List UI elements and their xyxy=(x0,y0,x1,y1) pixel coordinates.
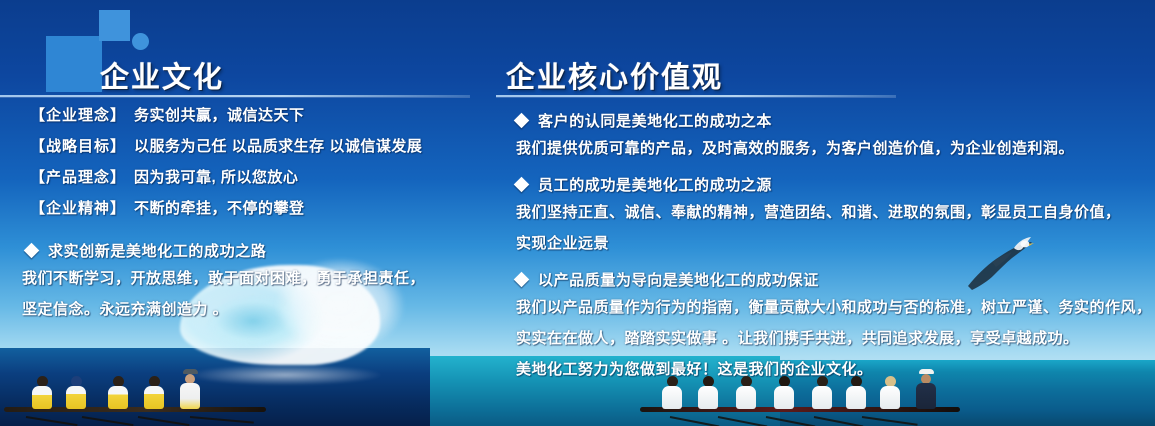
rower-body xyxy=(880,386,900,409)
coxswain xyxy=(180,369,200,409)
oar xyxy=(138,416,190,426)
column-right: 客户的认同是美地化工的成功之本 我们提供优质可靠的产品，及时高效的服务，为客户创… xyxy=(496,104,1136,389)
value-bullet-label: 员工的成功是美地化工的成功之源 xyxy=(538,174,772,195)
diamond-bullet-icon xyxy=(514,272,530,288)
corporate-culture-banner: 企业文化 企业核心价值观 【企业理念】 务实创共赢，诚信达天下 【战略目标】 以… xyxy=(0,0,1155,426)
culture-entry-value: 务实创共赢，诚信达天下 xyxy=(134,104,305,125)
divider-right xyxy=(496,95,896,97)
culture-entry: 【企业理念】 务实创共赢，诚信达天下 xyxy=(0,104,480,135)
culture-bullet-label: 求实创新是美地化工的成功之路 xyxy=(48,240,266,261)
value-paragraph-line: 实现企业远景 xyxy=(496,232,1136,263)
value-bullet-label: 以产品质量为导向是美地化工的成功保证 xyxy=(538,269,819,290)
diamond-bullet-icon xyxy=(24,243,40,259)
culture-entry-label: 【战略目标】 xyxy=(30,135,134,156)
eagle-icon xyxy=(962,232,1036,294)
rower xyxy=(108,376,128,409)
rower-body xyxy=(698,386,718,409)
culture-entry-label: 【企业精神】 xyxy=(30,197,134,218)
rower-body xyxy=(66,386,86,409)
culture-entry-value: 以服务为己任 以品质求生存 以诚信谋发展 xyxy=(134,135,422,156)
rower xyxy=(32,376,52,409)
rower-body xyxy=(846,386,866,409)
column-left: 【企业理念】 务实创共赢，诚信达天下 【战略目标】 以服务为己任 以品质求生存 … xyxy=(0,104,480,329)
logo-square-large xyxy=(46,36,102,92)
oar xyxy=(862,416,918,426)
value-bullet: 客户的认同是美地化工的成功之本 xyxy=(496,104,1136,137)
rower-body xyxy=(108,386,128,409)
rower xyxy=(144,376,164,409)
rower xyxy=(66,376,86,409)
rower xyxy=(662,376,682,409)
oar xyxy=(26,416,78,426)
rower xyxy=(880,376,900,409)
rower-body xyxy=(144,386,164,409)
culture-entry: 【产品理念】 因为我可靠, 所以您放心 xyxy=(0,166,480,197)
culture-bullet: 求实创新是美地化工的成功之路 xyxy=(0,234,480,267)
rower-body xyxy=(32,386,52,409)
culture-entry-value: 不断的牵挂，不停的攀登 xyxy=(134,197,305,218)
oar xyxy=(718,416,767,426)
coxswain-body xyxy=(180,383,200,409)
rower-body xyxy=(812,386,832,409)
rower xyxy=(736,376,756,409)
culture-entry-value: 因为我可靠, 所以您放心 xyxy=(134,166,298,187)
oar xyxy=(82,416,134,426)
culture-paragraph-line: 我们不断学习，开放思维，敢于面对困难，勇于承担责任， xyxy=(0,267,480,298)
oar xyxy=(670,416,719,426)
logo-dot xyxy=(132,33,149,50)
value-bullet: 以产品质量为导向是美地化工的成功保证 xyxy=(496,263,1136,296)
rowing-boat-right xyxy=(640,356,970,426)
boat-hull xyxy=(640,407,960,412)
culture-entry-label: 【企业理念】 xyxy=(30,104,134,125)
rower-body xyxy=(774,386,794,409)
divider-left xyxy=(0,95,470,97)
rowing-boat-left xyxy=(4,352,274,426)
value-paragraph-line: 我们坚持正直、诚信、奉献的精神，营造团结、和谐、进取的氛围，彰显员工自身价值， xyxy=(496,201,1136,232)
value-paragraph-line: 实实在在做人，踏踏实实做事 。让我们携手共进，共同追求发展，享受卓越成功。 xyxy=(496,327,1136,358)
value-bullet: 员工的成功是美地化工的成功之源 xyxy=(496,168,1136,201)
culture-entry: 【战略目标】 以服务为己任 以品质求生存 以诚信谋发展 xyxy=(0,135,480,166)
page-title-right: 企业核心价值观 xyxy=(506,54,723,96)
oar xyxy=(766,416,815,426)
culture-entry-label: 【产品理念】 xyxy=(30,166,134,187)
coxswain xyxy=(916,369,936,409)
oar xyxy=(814,416,863,426)
value-paragraph-line: 我们提供优质可靠的产品，及时高效的服务，为客户创造价值，为企业创造利润。 xyxy=(496,137,1136,168)
rower-body xyxy=(736,386,756,409)
value-bullet-label: 客户的认同是美地化工的成功之本 xyxy=(538,110,772,131)
rower-body xyxy=(662,386,682,409)
page-title-left: 企业文化 xyxy=(100,54,224,96)
value-paragraph-line: 我们以产品质量作为行为的指南，衡量贡献大小和成功与否的标准，树立严谨、务实的作风… xyxy=(496,296,1136,327)
oar xyxy=(190,416,254,424)
rower xyxy=(774,376,794,409)
coxswain-body xyxy=(916,383,936,409)
diamond-bullet-icon xyxy=(514,113,530,129)
culture-paragraph-line: 坚定信念。永远充满创造力 。 xyxy=(0,298,480,329)
rower xyxy=(812,376,832,409)
culture-entry: 【企业精神】 不断的牵挂，不停的攀登 xyxy=(0,197,480,228)
logo-square-small xyxy=(99,10,130,41)
rower xyxy=(846,376,866,409)
rower xyxy=(698,376,718,409)
diamond-bullet-icon xyxy=(514,177,530,193)
